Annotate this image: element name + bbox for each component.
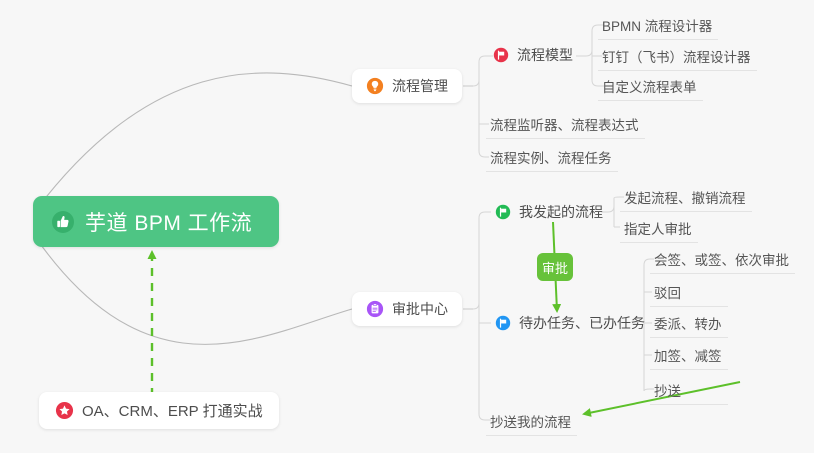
mindmap-canvas: 待办任务 --> 芋道 BPM 工作流 流程管理	[0, 0, 814, 453]
leaf-label-cc-to-me-process: 抄送我的流程	[490, 411, 571, 431]
link-ac-corner	[473, 303, 479, 309]
leaf-node-start-cancel-process[interactable]: 发起流程、撤销流程	[620, 182, 752, 212]
branch-label-approval-center: 审批中心	[392, 299, 448, 319]
flag-icon	[495, 315, 511, 331]
node-label-process-model: 流程模型	[517, 45, 573, 65]
leaf-node-dingtalk-feishu-designer[interactable]: 钉钉（飞书）流程设计器	[598, 41, 757, 71]
root-label: 芋道 BPM 工作流	[85, 207, 252, 237]
node-label-my-initiated-process: 我发起的流程	[519, 202, 603, 222]
star-icon	[55, 401, 74, 420]
branch-label-process-management: 流程管理	[392, 76, 448, 96]
node-label-todo-done-task: 待办任务、已办任务	[519, 313, 645, 333]
leaf-node-countersign-orsign-sequential[interactable]: 会签、或签、依次审批	[650, 244, 795, 274]
branch-node-process-management[interactable]: 流程管理	[352, 69, 462, 103]
leaf-label-add-remove-sign: 加签、减签	[654, 345, 722, 365]
node-process-model[interactable]: 流程模型	[487, 39, 579, 71]
leaf-label-dingtalk-feishu-designer: 钉钉（飞书）流程设计器	[602, 46, 751, 66]
flag-icon	[495, 204, 511, 220]
thumbs-up-icon	[51, 210, 75, 234]
leaf-node-add-remove-sign[interactable]: 加签、减签	[650, 340, 728, 370]
link-pm-corner-top	[473, 80, 479, 86]
lightbulb-icon	[366, 77, 384, 95]
link-root-to-process-management	[36, 73, 352, 210]
leaf-node-custom-process-form[interactable]: 自定义流程表单	[598, 71, 703, 101]
leaf-label-bpmn-designer: BPMN 流程设计器	[602, 15, 712, 35]
leaf-label-start-cancel-process: 发起流程、撤销流程	[624, 187, 746, 207]
link-root-to-approval-center	[36, 238, 352, 344]
leaf-node-bpmn-designer[interactable]: BPMN 流程设计器	[598, 10, 718, 40]
leaf-node-process-listener-expression[interactable]: 流程监听器、流程表达式	[486, 109, 645, 139]
leaf-node-process-instance-task[interactable]: 流程实例、流程任务	[486, 142, 618, 172]
leaf-label-assignee-approval: 指定人审批	[624, 218, 692, 238]
leaf-label-process-instance-task: 流程实例、流程任务	[490, 147, 612, 167]
leaf-label-countersign-orsign-sequential: 会签、或签、依次审批	[654, 249, 789, 269]
branch-node-approval-center[interactable]: 审批中心	[352, 292, 462, 326]
relation-label-approval-text: 审批	[542, 258, 568, 277]
leaf-node-carbon-copy[interactable]: 抄送	[650, 375, 728, 405]
leaf-node-cc-to-me-process[interactable]: 抄送我的流程	[486, 406, 577, 436]
link-model-corner	[586, 50, 592, 56]
node-my-initiated-process[interactable]: 我发起的流程	[489, 196, 609, 228]
leaf-label-process-listener-expression: 流程监听器、流程表达式	[490, 114, 639, 134]
leaf-label-carbon-copy: 抄送	[654, 380, 681, 400]
clipboard-icon	[366, 300, 384, 318]
floating-node-integration-practice[interactable]: OA、CRM、ERP 打通实战	[39, 392, 279, 429]
flag-icon	[493, 47, 509, 63]
leaf-node-reject[interactable]: 驳回	[650, 277, 728, 307]
root-node[interactable]: 芋道 BPM 工作流	[33, 196, 279, 247]
node-todo-done-task[interactable]: 待办任务、已办任务	[489, 307, 651, 339]
leaf-node-delegate-transfer[interactable]: 委派、转办	[650, 308, 728, 338]
floating-node-label: OA、CRM、ERP 打通实战	[82, 400, 263, 421]
leaf-label-reject: 驳回	[654, 282, 681, 302]
leaf-node-assignee-approval[interactable]: 指定人审批	[620, 213, 698, 243]
relation-label-approval[interactable]: 审批	[537, 253, 573, 281]
leaf-label-custom-process-form: 自定义流程表单	[602, 76, 697, 96]
leaf-label-delegate-transfer: 委派、转办	[654, 313, 722, 333]
